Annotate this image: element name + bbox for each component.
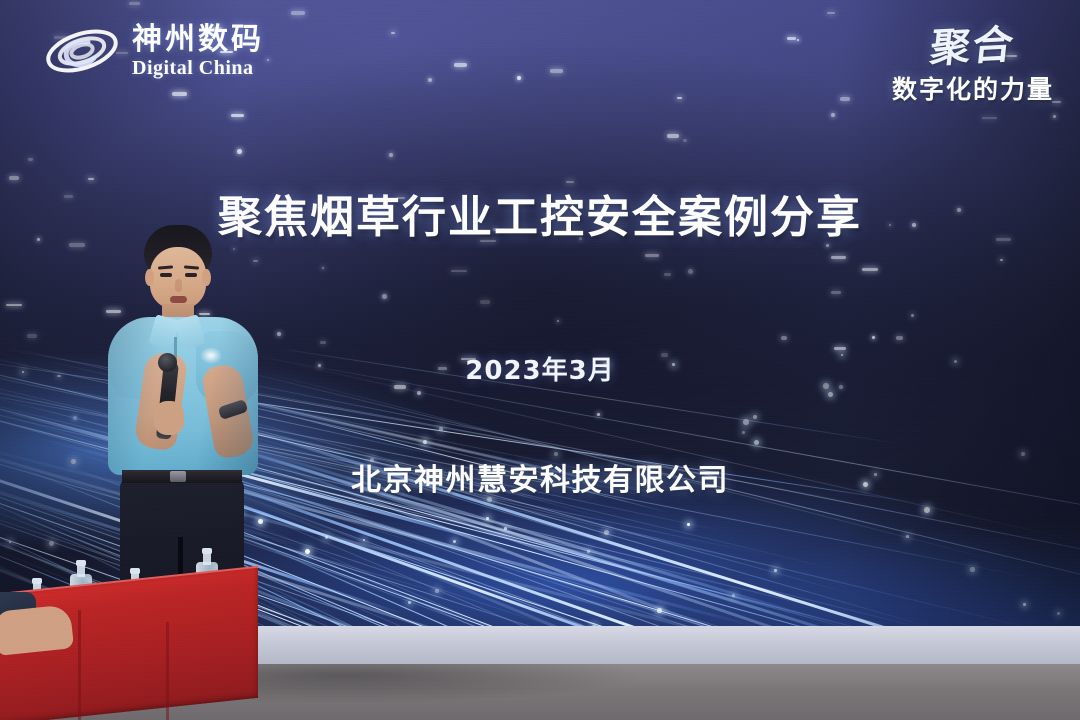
digital-china-logo: 神州数码 Digital China [42, 20, 264, 82]
attendee-hand [0, 604, 74, 656]
speaker-nose [175, 279, 182, 292]
speaker-eye-right [185, 273, 197, 277]
stage-photo-scene: 聚焦烟草行业工控安全案例分享 2023年3月 北京神州慧安科技有限公司 神州数码… [0, 0, 1080, 720]
speaker-eye-left [160, 273, 172, 277]
speaker-mouth [170, 296, 187, 303]
table-skirt-fold [78, 610, 81, 720]
brand-wordmark: 神州数码 Digital China [132, 25, 264, 78]
table-skirt-fold [166, 622, 169, 720]
spiral-galaxy-icon [42, 20, 122, 82]
event-calligraphy: 聚合 [888, 10, 1057, 76]
belt-buckle [170, 471, 186, 482]
event-subtitle: 数字化的力量 [892, 70, 1054, 106]
speaker-ear-right [202, 269, 211, 286]
event-logo: 聚合 数字化的力量 [892, 14, 1054, 106]
chest-logo-icon [200, 347, 222, 364]
speaker-ear-left [145, 269, 154, 286]
speaker-hand-holding-mic [154, 401, 184, 435]
brand-name-en: Digital China [132, 58, 264, 78]
brand-name-cn: 神州数码 [132, 25, 264, 55]
